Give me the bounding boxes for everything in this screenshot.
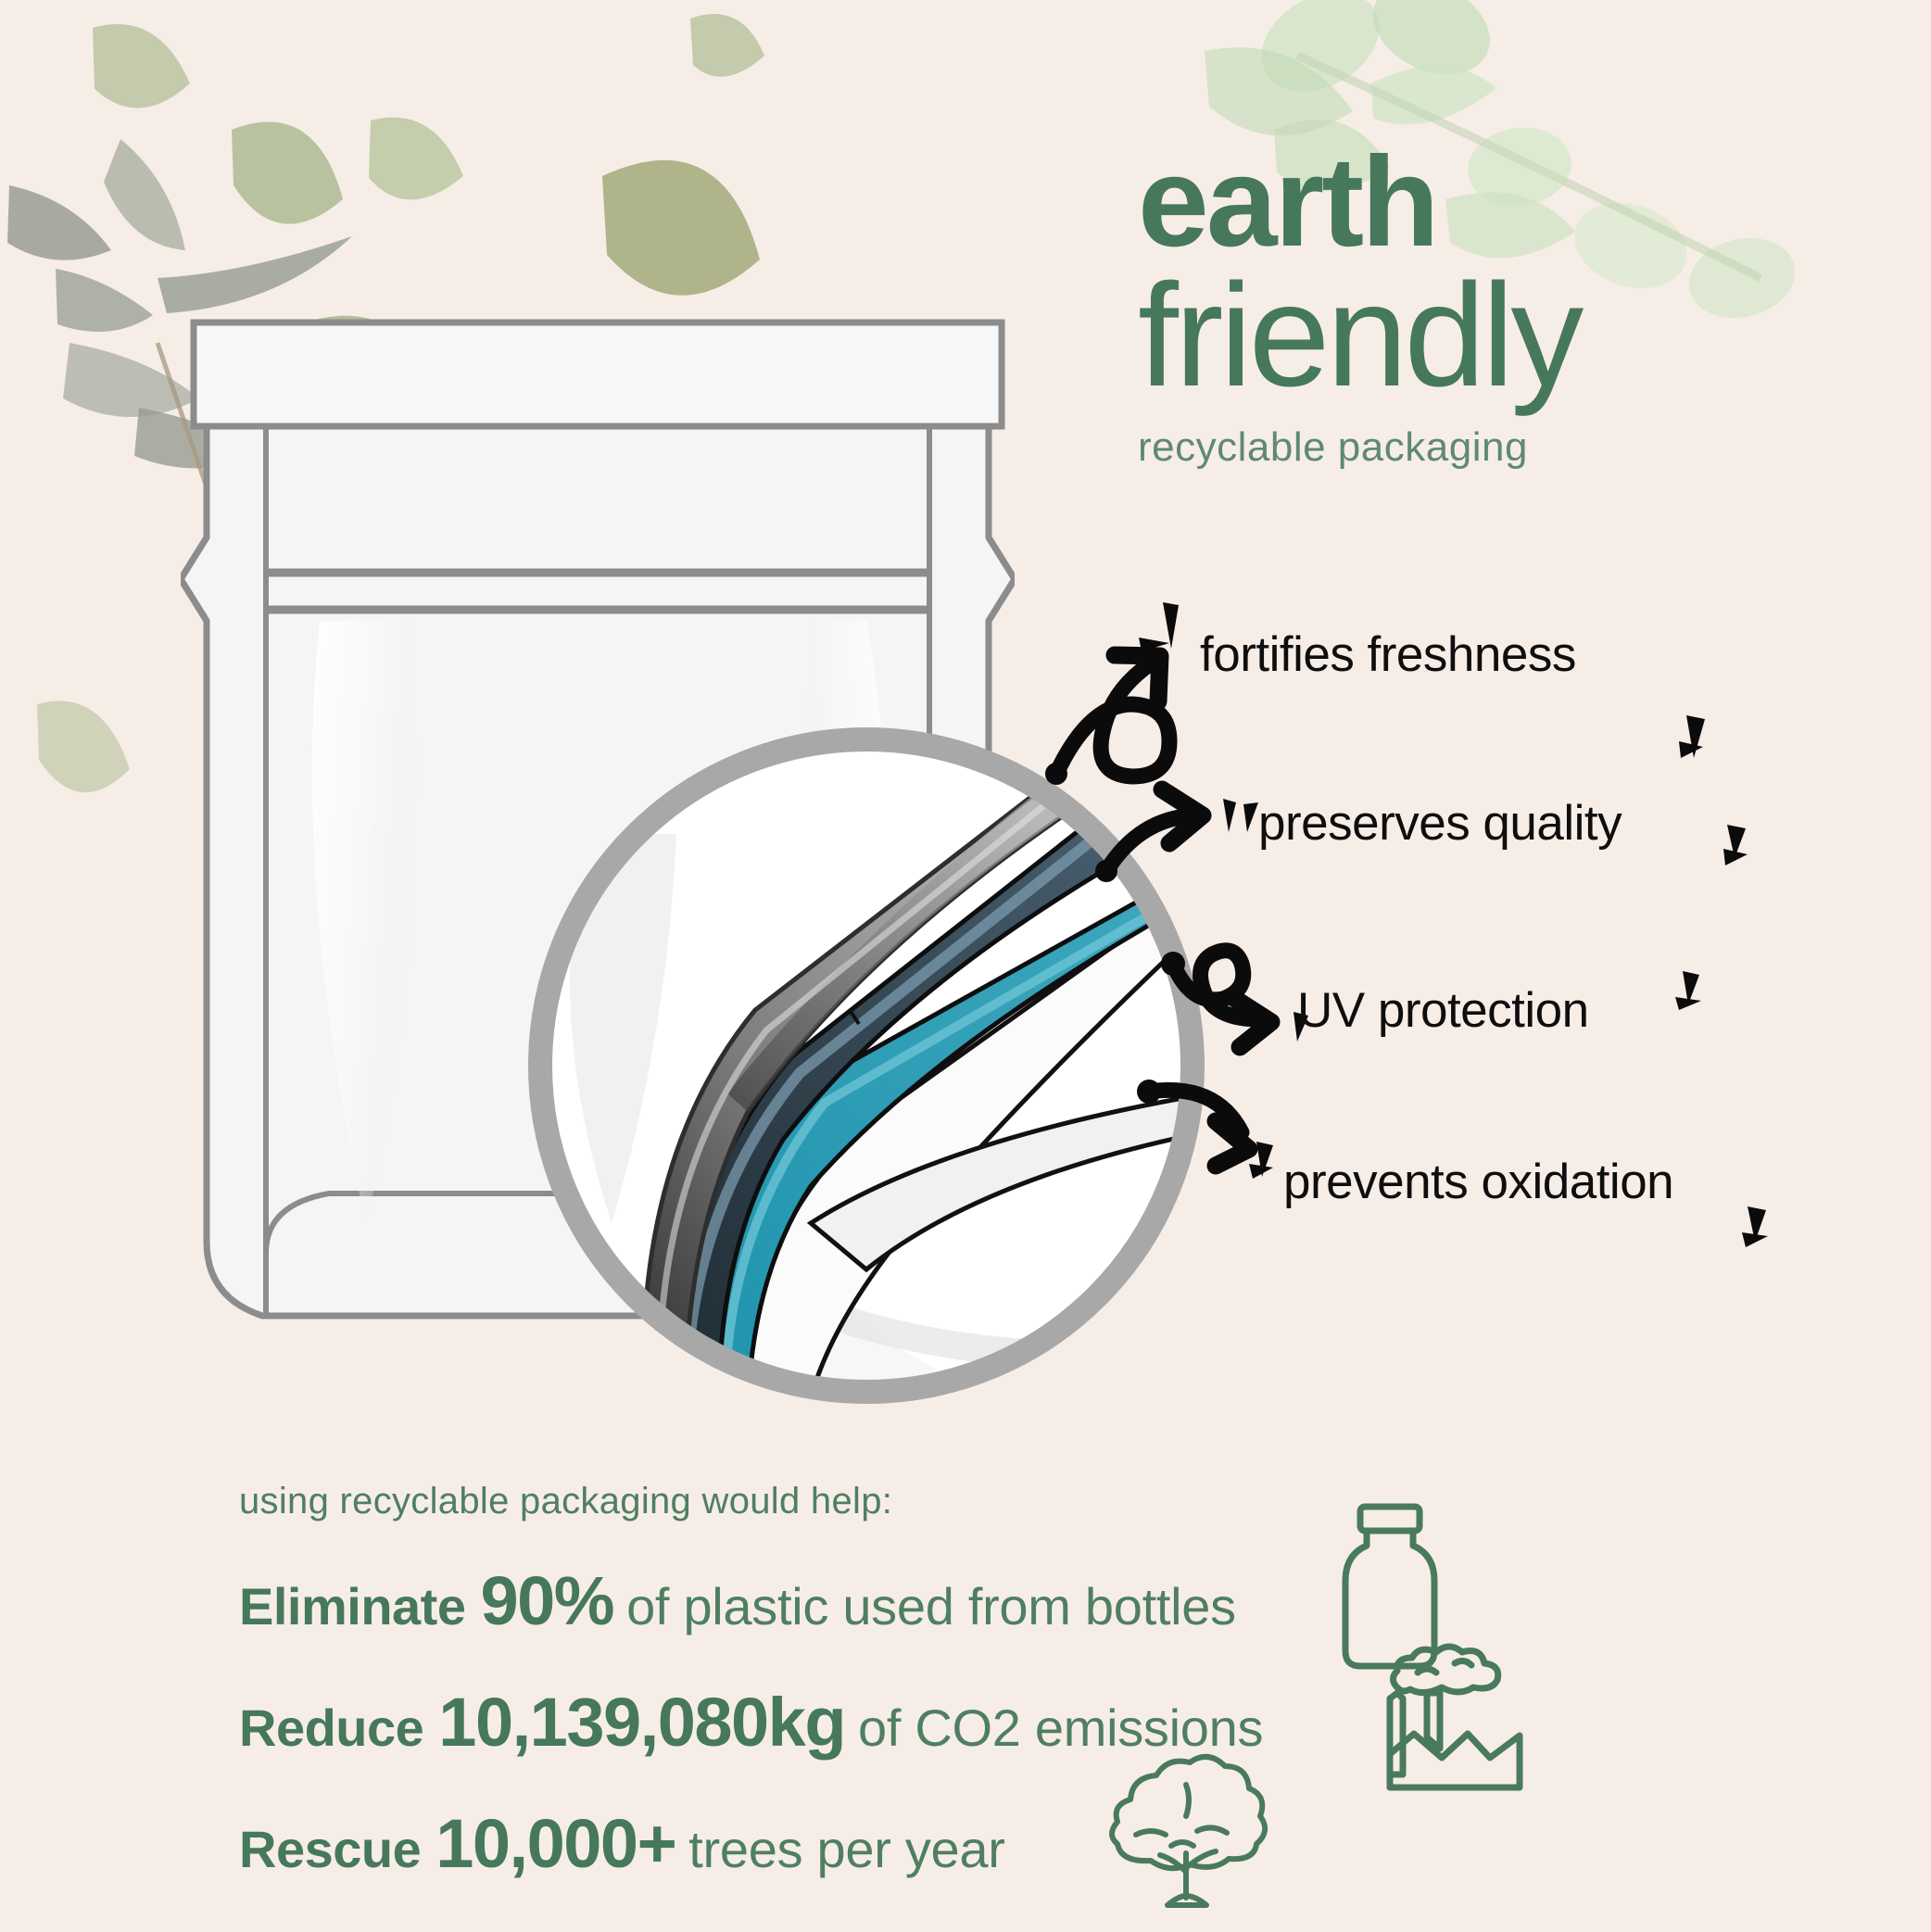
feature-label-uv-protection: UV protection	[1297, 982, 1589, 1039]
stat-verb: Rescue	[239, 1819, 421, 1879]
stat-tail: of plastic used from bottles	[626, 1576, 1236, 1636]
stats-intro-text: using recyclable packaging would help:	[239, 1481, 1685, 1522]
stat-verb: Reduce	[239, 1698, 423, 1758]
sparkle-accents	[1139, 602, 1768, 1247]
magnifier-film-cross-section	[505, 704, 1228, 1427]
stat-verb: Eliminate	[239, 1576, 465, 1636]
headline-line-2: friendly	[1138, 267, 1916, 405]
stat-value: 10,000+	[435, 1804, 675, 1883]
stat-row-plastic: Eliminate 90% of plastic used from bottl…	[239, 1561, 1685, 1640]
pouch-header-strip	[194, 322, 1002, 426]
stat-tail: trees per year	[688, 1819, 1004, 1879]
headline-line-1: earth	[1138, 144, 1916, 261]
stat-value: 10,139,080kg	[438, 1683, 845, 1762]
feature-label-preserves-quality: preserves quality	[1258, 795, 1622, 852]
stat-row-trees: Rescue 10,000+ trees per year	[239, 1804, 1685, 1883]
stat-value: 90%	[480, 1561, 613, 1640]
headline-subtitle: recyclable packaging	[1138, 424, 1916, 471]
feature-label-prevents-oxidation: prevents oxidation	[1283, 1154, 1673, 1210]
infographic-canvas: earth friendly recyclable packaging fort…	[0, 0, 1931, 1932]
factory-icon	[1369, 1635, 1532, 1798]
feature-label-fortifies-freshness: fortifies freshness	[1200, 626, 1576, 683]
tree-icon	[1093, 1742, 1279, 1918]
headline-block: earth friendly recyclable packaging	[1138, 144, 1916, 471]
